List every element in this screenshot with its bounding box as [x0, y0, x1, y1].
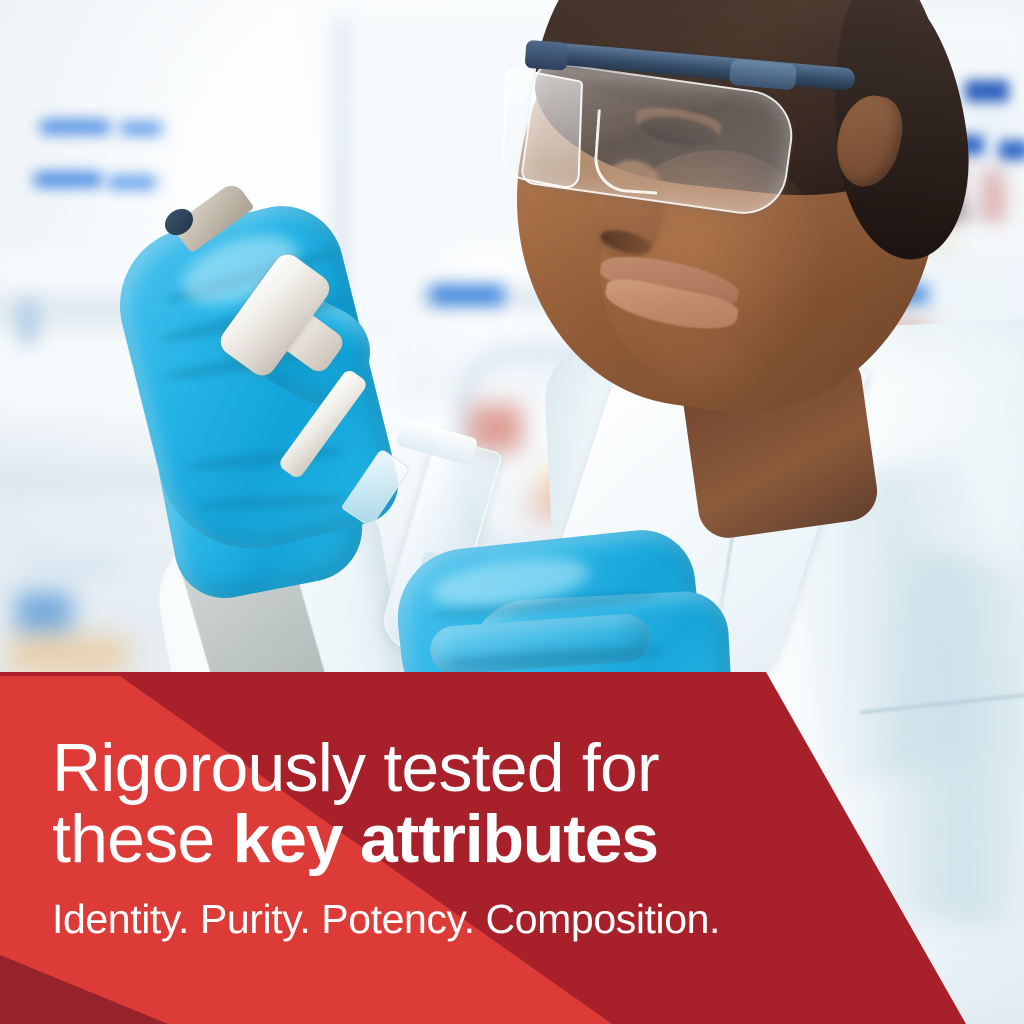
banner-copy: Rigorously tested for these key attribut…	[52, 735, 812, 943]
goggles-nose-bridge	[592, 109, 662, 194]
background-label-chip	[40, 120, 110, 134]
headline: Rigorously tested for these key attribut…	[52, 735, 812, 872]
goggles-temple-segment	[729, 59, 797, 91]
micropipette	[168, 196, 448, 526]
pipette-shaft	[277, 368, 369, 480]
goggles-side-shield	[502, 66, 583, 191]
subline: Identity. Purity. Potency. Composition.	[52, 896, 812, 943]
background-bottle	[20, 300, 36, 344]
banner-image: Rigorously tested for these key attribut…	[0, 0, 1024, 1024]
headline-line-2-bold: key attributes	[232, 801, 657, 877]
background-bottle-cap-blue	[999, 140, 1024, 160]
background-container-red	[470, 405, 522, 451]
background-label-chip	[25, 555, 115, 577]
headline-line-1: Rigorously tested for	[52, 730, 659, 806]
background-label-chip	[34, 172, 102, 187]
background-label-chip	[120, 122, 162, 135]
background-container-blue	[16, 592, 72, 634]
headline-line-2: these key attributes	[52, 806, 812, 873]
background-rack-red	[985, 170, 1001, 230]
headline-line-2-thin: these	[52, 801, 232, 877]
background-container-orange	[8, 640, 128, 670]
background-label-chip	[108, 176, 156, 189]
background-bottle-cap-blue	[965, 80, 1009, 102]
goggles-hinge	[525, 40, 569, 71]
pipette-tip	[341, 448, 411, 528]
